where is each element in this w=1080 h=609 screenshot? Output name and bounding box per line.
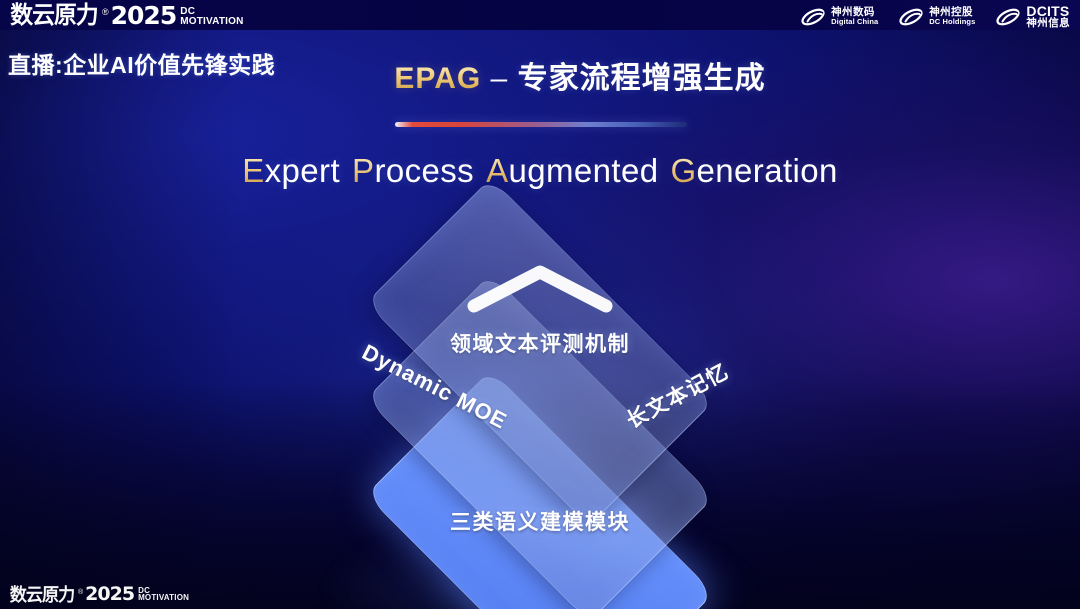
brand-dc-motivation: DC MOTIVATION	[138, 587, 189, 602]
brand-year: 2025	[85, 585, 134, 604]
slide-canvas: 数云原力 ® 2025 DC MOTIVATION 直播:企业AI价值先锋实践 …	[0, 0, 1080, 609]
brand-logo-bottom: 数云原力 ® 2025 DC MOTIVATION	[8, 3, 1070, 604]
registered-mark-icon: ®	[78, 589, 83, 596]
brand-motivation-word: MOTIVATION	[138, 594, 189, 602]
brand-name-cn: 数云原力	[10, 586, 75, 604]
